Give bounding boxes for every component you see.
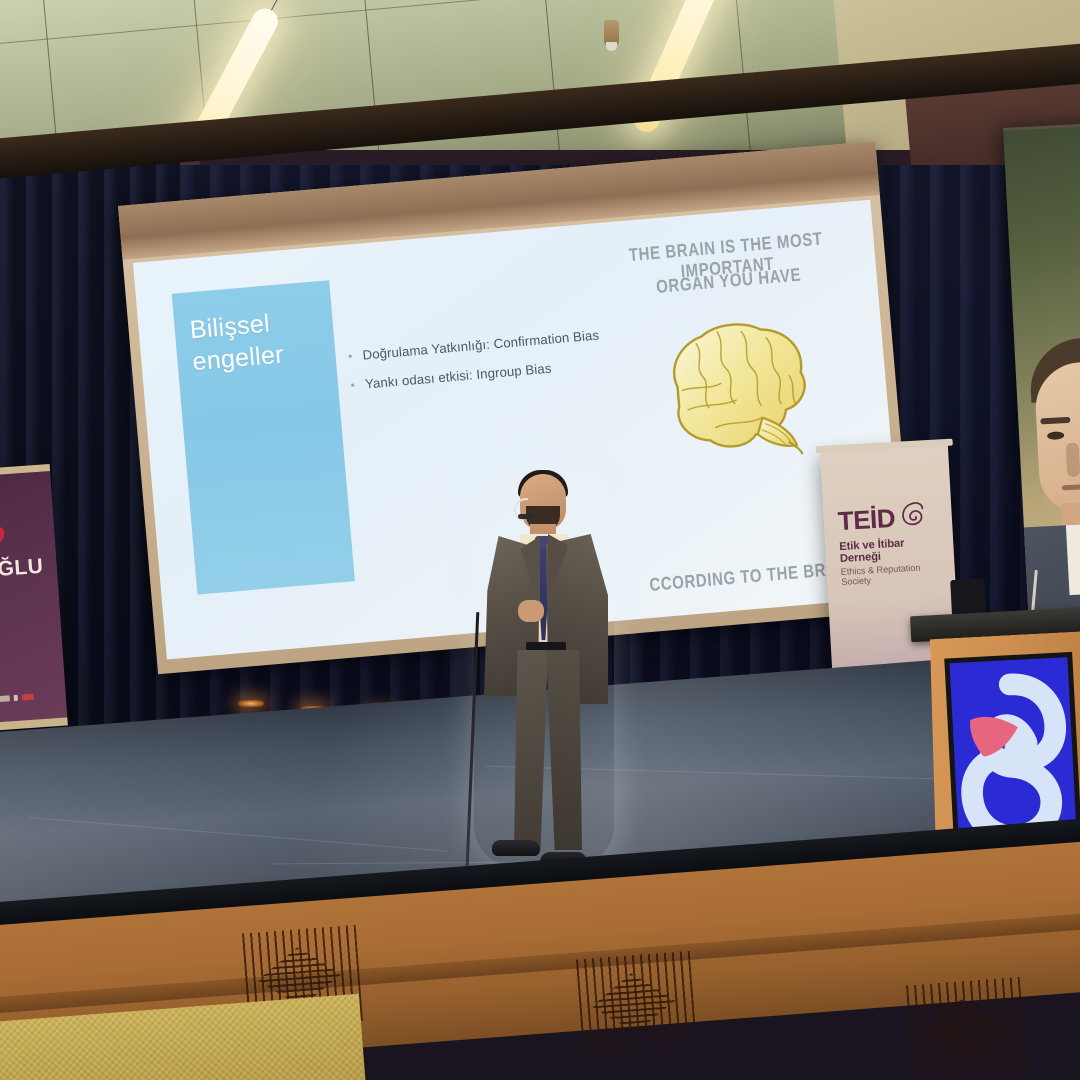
teid-spiral-logo xyxy=(898,500,926,532)
teid-wordmark: TEİD xyxy=(837,504,896,533)
portrait-nose xyxy=(1066,442,1080,477)
teid-subtitle-en: Ethics & Reputation Society xyxy=(840,561,945,587)
speaker-shoe-left xyxy=(492,840,540,856)
portrait-shirt xyxy=(1066,523,1080,596)
speaker-presenter xyxy=(468,474,618,884)
podium-microphone xyxy=(950,578,986,616)
stage-uplight xyxy=(238,700,264,707)
brain-illustration xyxy=(641,302,834,472)
stage-vent-lattice xyxy=(900,977,1027,1080)
slide-bullet-list: Doğrulama Yatkınlığı: Confirmation Bias … xyxy=(346,327,610,407)
heart-icon xyxy=(0,523,8,553)
slide-title-box: Bilişsel engeller xyxy=(172,280,355,594)
slide-title: Bilişsel engeller xyxy=(189,302,334,378)
speaker-leg-right xyxy=(546,650,582,850)
speaker-leg-left xyxy=(514,650,548,850)
teid-subtitle-tr: Etik ve İtibar Derneği xyxy=(839,535,944,565)
sponsor-mark xyxy=(14,695,18,701)
left-banner-text: OĞLU xyxy=(0,554,62,584)
teid-logo-block: TEİD Etik ve İtibar Derneği Ethics & Rep… xyxy=(837,499,945,587)
sponsor-mark xyxy=(22,694,34,701)
speaker-hand xyxy=(518,600,544,622)
sponsor-mark xyxy=(0,695,10,702)
sprinkler-head-icon xyxy=(604,20,619,46)
stage-scene: Bilişsel engeller Doğrulama Yatkınlığı: … xyxy=(0,0,1080,1080)
headset-mic-boom xyxy=(518,514,532,519)
portrait-mouth xyxy=(1062,484,1080,491)
left-banner-sponsor-logos xyxy=(0,694,34,702)
stage-vent-lattice xyxy=(570,951,697,1056)
speaker-belt xyxy=(526,642,566,651)
